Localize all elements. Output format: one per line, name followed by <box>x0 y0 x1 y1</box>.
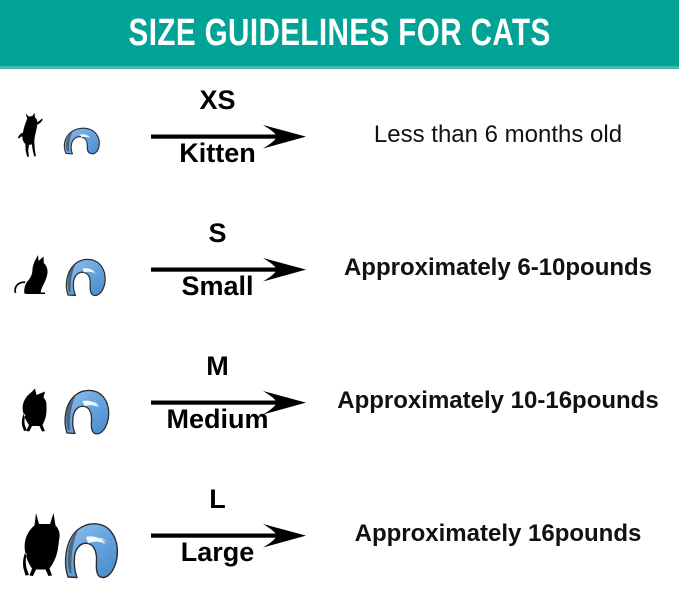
nail-cap-xs-icon <box>60 124 104 163</box>
description-column: Less than 6 months old <box>325 69 679 201</box>
size-row-xs: XS Kitten Less than 6 months old <box>0 69 679 201</box>
nail-cap-m-icon <box>62 388 118 443</box>
icon-column <box>0 202 145 334</box>
size-row-l: L Large Approximately 16pounds <box>0 468 679 600</box>
icon-column <box>0 335 145 467</box>
icon-column <box>0 69 145 201</box>
cat-standing-kitten-icon <box>14 112 44 165</box>
cat-sitting-small-icon <box>10 251 56 302</box>
nail-cap-s-icon <box>63 257 113 304</box>
size-label-column: M Medium <box>145 335 325 467</box>
header-banner: SIZE GUIDELINES FOR CATS <box>0 0 679 66</box>
size-name: Large <box>145 539 290 566</box>
size-name: Kitten <box>145 140 290 167</box>
size-abbreviation: S <box>145 220 290 247</box>
page-title: SIZE GUIDELINES FOR CATS <box>128 14 550 52</box>
size-row-m: M Medium Approximately 10-16pounds <box>0 335 679 467</box>
size-name: Small <box>145 273 290 300</box>
size-label-column: XS Kitten <box>145 69 325 201</box>
size-rows: XS Kitten Less than 6 months old <box>0 69 679 599</box>
size-guidelines-chart: SIZE GUIDELINES FOR CATS <box>0 0 679 599</box>
nail-cap-l-icon <box>62 521 128 588</box>
description-column: Approximately 16pounds <box>325 468 679 600</box>
size-label-column: S Small <box>145 202 325 334</box>
size-label-column: L Large <box>145 468 325 600</box>
size-abbreviation: M <box>145 353 290 380</box>
size-description: Approximately 10-16pounds <box>337 388 658 414</box>
size-row-s: S Small Approximately 6-10pounds <box>0 202 679 334</box>
description-column: Approximately 6-10pounds <box>325 202 679 334</box>
size-description: Approximately 16pounds <box>355 521 642 547</box>
cat-sitting-medium-icon <box>12 384 64 441</box>
size-description: Less than 6 months old <box>374 122 622 148</box>
size-abbreviation: L <box>145 486 290 513</box>
description-column: Approximately 10-16pounds <box>325 335 679 467</box>
size-name: Medium <box>145 406 290 433</box>
icon-column <box>0 468 145 600</box>
size-description: Approximately 6-10pounds <box>344 255 652 281</box>
size-abbreviation: XS <box>145 87 290 114</box>
